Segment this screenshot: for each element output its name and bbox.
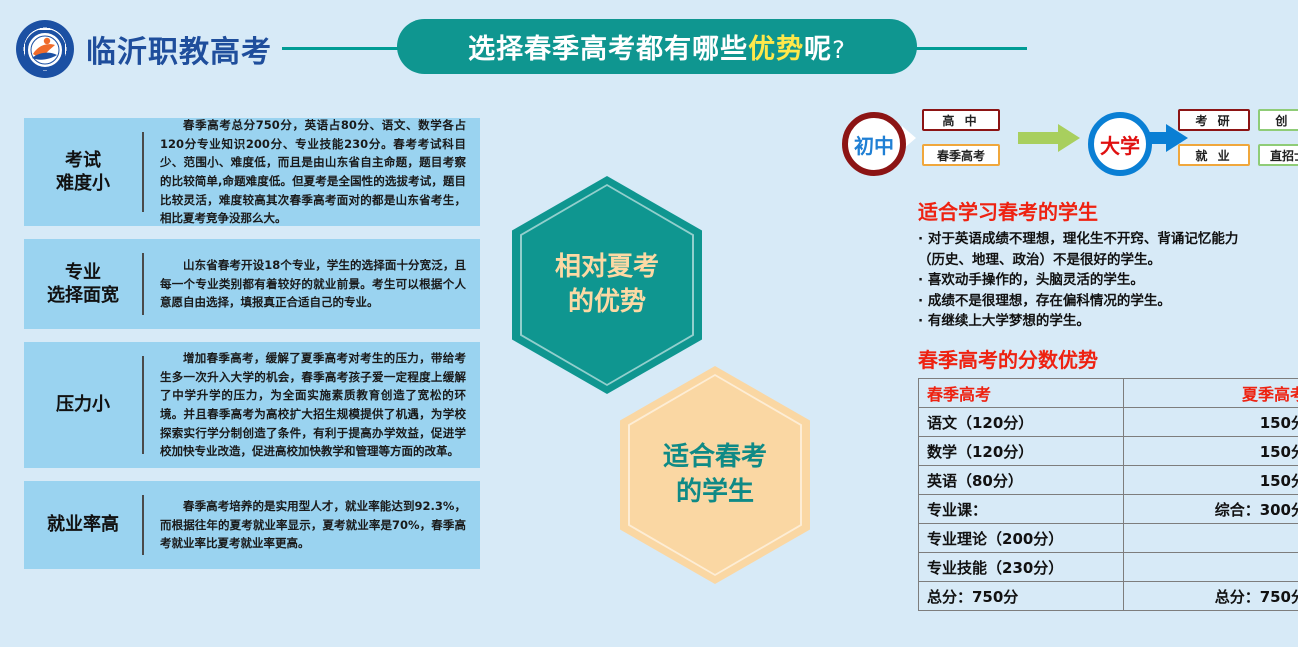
hexagon-advantages: 相对夏考 的优势 (512, 176, 702, 394)
title-question-mark: ? (832, 36, 846, 64)
card-body: 春季高考总分750分，英语占80分、语文、数学各占120分专业知识200分、专业… (144, 103, 480, 241)
table-row: 专业理论（200分） (919, 524, 1298, 553)
card-body: 春季高考培养的是实用型人才，就业率能达到92.3%，而根据往年的夏考就业率显示，… (144, 484, 480, 566)
flow-box-employment: 就 业 (1178, 144, 1250, 166)
table-header-spring: 春季高考 (919, 379, 1124, 408)
hexagon-label-line2: 的优势 (555, 285, 659, 320)
card-label-line1: 考试 (24, 149, 142, 172)
card-body-text: 山东省春考开设18个专业，学生的选择面十分宽泛，且每一个专业类别都有着较好的就业… (160, 258, 466, 309)
card-body-text: 增加春季高考，缓解了夏季高考对考生的压力，带给考生多一次升入大学的机会，春季高考… (160, 351, 466, 458)
card-body: 增加春季高考，缓解了夏季高考对考生的压力，带给考生多一次升入大学的机会，春季高考… (144, 336, 480, 474)
table-cell-subject: 专业课： (919, 495, 1124, 524)
advantage-card: 压力小 增加春季高考，缓解了夏季高考对考生的压力，带给考生多一次升入大学的机会，… (24, 342, 480, 468)
table-header-row: 春季高考 夏季高考 (919, 379, 1298, 408)
card-label-line1: 就业率高 (24, 513, 142, 536)
table-cell-total-spring: 总分：750分 (919, 582, 1124, 611)
card-body: 山东省春考开设18个专业，学生的选择面十分宽泛，且每一个专业类别都有着较好的就业… (144, 243, 480, 325)
page-header: 临沂职教高考 选择春季高考都有哪些优势呢? (0, 0, 1298, 92)
suitable-students-title: 适合学习春考的学生 (918, 196, 1288, 225)
advantage-card: 考试 难度小 春季高考总分750分，英语占80分、语文、数学各占120分专业知识… (24, 118, 480, 226)
title-highlight: 优势 (748, 34, 804, 65)
hexagon-label-line1: 相对夏考 (555, 250, 659, 285)
header-rule-left (282, 47, 410, 50)
table-cell-subject: 数学（120分） (919, 437, 1124, 466)
table-cell-subject: 专业技能（230分） (919, 553, 1124, 582)
brand-name: 临沂职教高考 (86, 27, 272, 71)
score-advantage-section: 春季高考的分数优势 春季高考 夏季高考 语文（120分） 150分 数学（120… (918, 344, 1280, 611)
suitable-students-list: · 对于英语成绩不理想，理化生不开窍、背诵记忆能力 （历史、地理、政治）不是很好… (918, 229, 1288, 332)
card-label: 就业率高 (24, 513, 142, 536)
card-label-line1: 压力小 (24, 393, 142, 416)
table-row: 数学（120分） 150分 (919, 437, 1298, 466)
table-cell-summer-score (1124, 553, 1298, 582)
hexagon-label: 相对夏考 的优势 (555, 250, 659, 320)
table-cell-summer-score: 综合：300分 (1124, 495, 1298, 524)
education-path-flow: 初中 大学 高 中 春季高考 考 研 就 业 创 业 直招士官 (838, 104, 1293, 176)
flow-box-direct-officer: 直招士官 (1258, 144, 1298, 166)
card-label-line1: 专业 (24, 261, 142, 284)
header-rule-right (905, 47, 1027, 50)
table-cell-summer-score: 150分 (1124, 437, 1298, 466)
flow-node-university: 大学 (1088, 112, 1152, 176)
table-cell-subject: 专业理论（200分） (919, 524, 1124, 553)
advantage-card-list: 考试 难度小 春季高考总分750分，英语占80分、语文、数学各占120分专业知识… (24, 118, 480, 582)
flow-node-middle-school: 初中 (842, 112, 906, 176)
table-header-summer: 夏季高考 (1124, 379, 1298, 408)
brand-logo: 临沂职教高考 (16, 20, 272, 78)
page-title: 选择春季高考都有哪些优势呢? (468, 27, 846, 66)
table-cell-subject: 英语（80分） (919, 466, 1124, 495)
advantage-card: 专业 选择面宽 山东省春考开设18个专业，学生的选择面十分宽泛，且每一个专业类别… (24, 239, 480, 329)
infographic-page: 临沂职教高考 选择春季高考都有哪些优势呢? 考试 难度小 春季高考总分750分，… (0, 0, 1298, 647)
card-label-line2: 难度小 (24, 172, 142, 195)
card-body-text: 春季高考培养的是实用型人才，就业率能达到92.3%，而根据往年的夏考就业率显示，… (160, 499, 466, 550)
card-label-line2: 选择面宽 (24, 284, 142, 307)
score-advantage-title: 春季高考的分数优势 (918, 344, 1280, 373)
list-item: （历史、地理、政治）不是很好的学生。 (918, 250, 1288, 271)
list-item: · 成绩不是很理想，存在偏科情况的学生。 (918, 291, 1288, 312)
list-item: · 对于英语成绩不理想，理化生不开窍、背诵记忆能力 (918, 229, 1288, 250)
table-row: 专业课： 综合：300分 (919, 495, 1298, 524)
table-cell-subject: 语文（120分） (919, 408, 1124, 437)
hexagon-label-line2: 的学生 (663, 475, 767, 510)
list-item: · 喜欢动手操作的，头脑灵活的学生。 (918, 270, 1288, 291)
table-cell-summer-score (1124, 524, 1298, 553)
hexagon-label: 适合春考 的学生 (663, 440, 767, 510)
title-prefix: 选择春季高考都有哪些 (468, 34, 748, 65)
arrow-right-green-icon (1018, 124, 1080, 152)
flow-box-spring-exam: 春季高考 (922, 144, 1000, 166)
table-row: 总分：750分 总分：750分 (919, 582, 1298, 611)
table-row: 英语（80分） 150分 (919, 466, 1298, 495)
table-row: 专业技能（230分） (919, 553, 1298, 582)
list-item: · 有继续上大学梦想的学生。 (918, 311, 1288, 332)
hexagon-students: 适合春考 的学生 (620, 366, 810, 584)
card-label: 考试 难度小 (24, 149, 142, 195)
advantage-card: 就业率高 春季高考培养的是实用型人才，就业率能达到92.3%，而根据往年的夏考就… (24, 481, 480, 569)
table-cell-summer-score: 150分 (1124, 408, 1298, 437)
title-suffix: 呢 (804, 34, 832, 65)
flow-box-senior-high: 高 中 (922, 109, 1000, 131)
table-row: 语文（120分） 150分 (919, 408, 1298, 437)
score-comparison-table: 春季高考 夏季高考 语文（120分） 150分 数学（120分） 150分 英语… (918, 378, 1298, 611)
flow-box-entrepreneurship: 创 业 (1258, 109, 1298, 131)
emblem-figure-icon (25, 30, 65, 70)
title-banner: 选择春季高考都有哪些优势呢? (397, 19, 917, 74)
school-emblem-icon (16, 20, 74, 78)
suitable-students-section: 适合学习春考的学生 · 对于英语成绩不理想，理化生不开窍、背诵记忆能力 （历史、… (918, 196, 1288, 332)
table-cell-summer-score: 150分 (1124, 466, 1298, 495)
card-body-text: 春季高考总分750分，英语占80分、语文、数学各占120分专业知识200分、专业… (160, 118, 466, 225)
table-cell-total-summer: 总分：750分 (1124, 582, 1298, 611)
card-label: 压力小 (24, 393, 142, 416)
hexagon-label-line1: 适合春考 (663, 440, 767, 475)
flow-box-postgraduate: 考 研 (1178, 109, 1250, 131)
card-label: 专业 选择面宽 (24, 261, 142, 307)
